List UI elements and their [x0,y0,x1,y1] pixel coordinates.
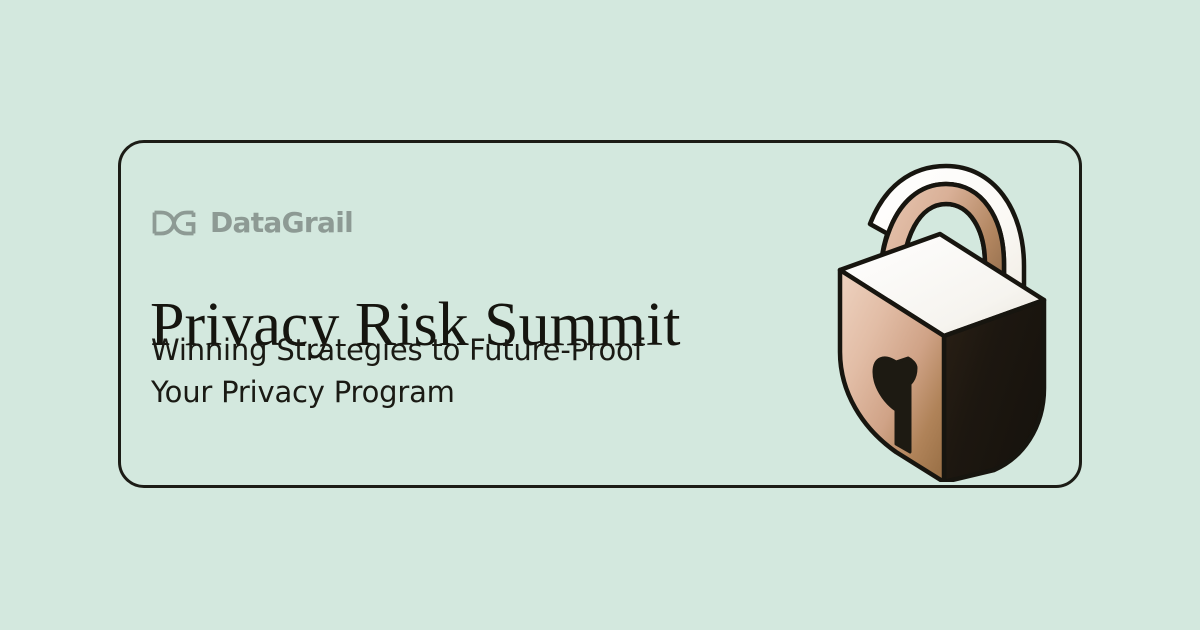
brand-wordmark: DataGrail [210,209,353,237]
padlock-illustration [822,152,1072,482]
page-subtitle: Winning Strategies to Future-Proof Your … [151,330,791,414]
poster-canvas: DataGrail Privacy Risk Summit Winning St… [0,0,1200,630]
datagrail-dg-monogram-icon [152,210,196,236]
brand-lockup: DataGrail [152,206,353,240]
subtitle-line-1: Winning Strategies to Future-Proof [151,330,791,372]
subtitle-line-2: Your Privacy Program [151,372,791,414]
